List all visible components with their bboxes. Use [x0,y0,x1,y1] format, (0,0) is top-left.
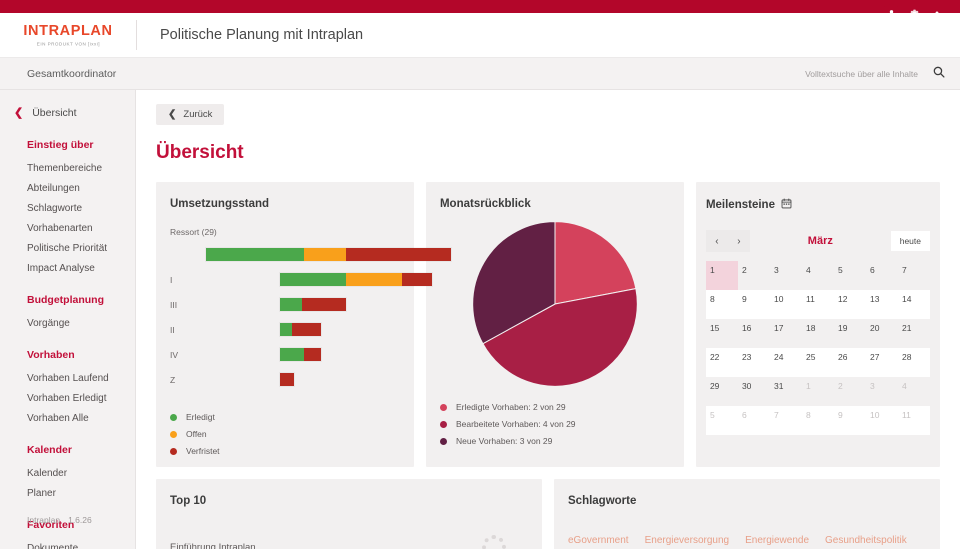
bar-chart-row: I [170,267,400,292]
calendar-week-row: 22232425262728 [706,348,930,377]
calendar-day-cell[interactable]: 12 [834,290,866,319]
calendar-month-label: März [750,235,891,247]
bar-track [206,323,400,336]
calendar-day-cell[interactable]: 9 [834,406,866,435]
tag-item[interactable]: Gesundheitspolitik [825,535,907,546]
calendar-day-cell[interactable]: 7 [898,261,930,290]
card-title-label: Meilensteine [706,199,775,211]
card-title: Schlagworte [568,495,926,507]
sidebar-group-einstieg: Einstieg über Themenbereiche Abteilungen… [0,139,135,278]
bar-segment-erledigt[interactable] [206,248,304,261]
sidebar-item-kalender[interactable]: Kalender [0,463,135,483]
bar-track [206,348,400,361]
calendar-day-cell[interactable]: 25 [802,348,834,377]
legend-dot [170,448,177,455]
calendar-day-cell[interactable]: 3 [866,377,898,406]
bar-stack[interactable] [280,273,432,286]
calendar-day-cell[interactable]: 21 [898,319,930,348]
bar-chart-axis-label: Ressort (29) [170,227,400,237]
app-version-name: Intraplan [27,515,60,525]
list-item[interactable]: Einführung Intraplan [170,535,528,549]
legend-label: Bearbeitete Vorhaben: 4 von 29 [456,419,576,429]
card-monatsrueckblick: Monatsrückblick Erledigte Vorhaben: 2 vo… [426,182,684,467]
calendar-day-cell[interactable]: 7 [770,406,802,435]
bar-row-label: I [170,275,206,285]
legend-dot [440,421,447,428]
sidebar-item-impact-analyse[interactable]: Impact Analyse [0,258,135,278]
card-title: Meilensteine [706,198,930,212]
sidebar-group-kalender: Kalender Kalender Planer [0,444,135,503]
legend-label: Erledigte Vorhaben: 2 von 29 [456,402,566,412]
calendar-day-cell[interactable]: 6 [738,406,770,435]
calendar-day-cell[interactable]: 14 [898,290,930,319]
sidebar-item-politische-prioritaet[interactable]: Politische Priorität [0,238,135,258]
search-input[interactable] [768,69,918,79]
chevron-left-icon: ❮ [14,106,23,119]
sidebar-group-title[interactable]: Kalender [0,444,135,456]
legend-label: Offen [186,429,207,439]
sidebar-group-vorhaben: Vorhaben Vorhaben Laufend Vorhaben Erled… [0,349,135,428]
card-title: Top 10 [170,495,528,507]
bar-segment-erledigt[interactable] [280,298,302,311]
top10-item-label: Einführung Intraplan [170,542,256,549]
calendar-day-cell[interactable]: 9 [738,290,770,319]
pie-chart-legend: Erledigte Vorhaben: 2 von 29Bearbeitete … [440,402,670,446]
sidebar-item-dokumente[interactable]: Dokumente [0,538,135,549]
calendar-day-cell[interactable]: 6 [866,261,898,290]
calendar-day-cell[interactable]: 4 [802,261,834,290]
donut-progress-icon [482,535,506,549]
calendar-prev-button[interactable]: ‹ [706,230,728,252]
sidebar-item-vorhaben-alle[interactable]: Vorhaben Alle [0,408,135,428]
calendar-arrows: ‹ › [706,230,750,252]
calendar-week-row: 15161718192021 [706,319,930,348]
sidebar-back-label: Übersicht [32,107,76,119]
tag-item[interactable]: Energiewende [745,535,809,546]
card-schlagworte: Schlagworte eGovernmentEnergieversorgung… [554,479,940,549]
bar-track [206,373,400,386]
bar-stack[interactable] [280,348,322,361]
calendar-day-cell[interactable]: 27 [866,348,898,377]
calendar-day-cell[interactable]: 8 [706,290,738,319]
calendar-week-row: 891011121314 [706,290,930,319]
calendar-day-cell[interactable]: 30 [738,377,770,406]
legend-item[interactable]: Erledigt [170,412,400,422]
bar-segment-erledigt[interactable] [280,323,292,336]
search-icon[interactable] [932,65,946,84]
calendar-day-cell[interactable]: 23 [738,348,770,377]
calendar-day-cell[interactable]: 29 [706,377,738,406]
bar-segment-verfristet[interactable] [346,248,451,261]
bar-chart-legend: ErledigtOffenVerfristet [170,412,400,456]
calendar-icon[interactable] [781,198,792,212]
search-container [768,58,946,90]
calendar-day-cell[interactable]: 11 [802,290,834,319]
header-divider [136,20,137,50]
legend-item[interactable]: Neue Vorhaben: 3 von 29 [440,436,670,446]
pie-chart-container [440,220,670,388]
bar-segment-verfristet[interactable] [280,373,295,386]
calendar-day-cell[interactable]: 4 [898,377,930,406]
bar-stack[interactable] [280,373,295,386]
legend-label: Erledigt [186,412,215,422]
calendar-day-cell[interactable]: 31 [770,377,802,406]
calendar-week-row: 2930311234 [706,377,930,406]
chevron-left-icon: ❮ [168,109,176,120]
sidebar-group-title[interactable]: Budgetplanung [0,294,135,306]
calendar-day-cell[interactable]: 15 [706,319,738,348]
sidebar-item-planer[interactable]: Planer [0,483,135,503]
tag-item[interactable]: Energieversorgung [645,535,730,546]
bar-segment-offen[interactable] [304,248,346,261]
legend-item[interactable]: Erledigte Vorhaben: 2 von 29 [440,402,670,412]
role-search-bar: Gesamtkoordinator [0,58,960,90]
page-title: Politische Planung mit Intraplan [160,27,363,43]
bar-segment-erledigt[interactable] [280,348,305,361]
bar-segment-verfristet[interactable] [402,273,431,286]
card-meilensteine: Meilensteine ‹ › [696,182,940,467]
dashboard-row-2: Top 10 Einführung Intraplan Schlagworte … [156,479,940,549]
bar-chart-row: IV [170,342,400,367]
sidebar-group-title[interactable]: Einstieg über [0,139,135,151]
bar-chart: IIIIIIIVZ [170,242,400,392]
legend-label: Neue Vorhaben: 3 von 29 [456,436,552,446]
sidebar-item-schlagworte[interactable]: Schlagworte [0,198,135,218]
calendar-day-cell[interactable]: 2 [738,261,770,290]
calendar-day-cell[interactable]: 2 [834,377,866,406]
calendar-day-cell[interactable]: 17 [770,319,802,348]
bar-stack[interactable] [206,248,451,261]
legend-label: Verfristet [186,446,220,456]
calendar-day-cell[interactable]: 19 [834,319,866,348]
calendar-day-cell[interactable]: 18 [802,319,834,348]
top-accent-bar [0,0,960,13]
content-page-title: Übersicht [156,142,940,164]
sidebar-item-vorhabenarten[interactable]: Vorhabenarten [0,218,135,238]
tag-list: eGovernmentEnergieversorgungEnergiewende… [568,535,926,546]
card-top10: Top 10 Einführung Intraplan [156,479,542,549]
calendar-day-cell[interactable]: 10 [866,406,898,435]
main-content: ❮ Zurück Übersicht Umsetzungsstand Resso… [136,90,960,549]
calendar-today-button[interactable]: heute [891,231,930,251]
calendar-week-row: 567891011 [706,406,930,435]
calendar-day-cell[interactable]: 5 [834,261,866,290]
bar-track [206,298,400,311]
bar-row-label: IV [170,350,206,360]
calendar-nav: ‹ › März heute [706,230,930,252]
bar-segment-verfristet[interactable] [292,323,321,336]
bar-row-label: III [170,300,206,310]
bar-segment-verfristet[interactable] [304,348,321,361]
calendar-day-cell[interactable]: 20 [866,319,898,348]
logo-subtitle: EIN PRODUKT VON [ixxi] [36,41,99,46]
bar-segment-erledigt[interactable] [280,273,346,286]
sidebar: ❮ Übersicht Einstieg über Themenbereiche… [0,90,136,549]
logo-text: INTRAPLAN [23,24,112,39]
dashboard-row-1: Umsetzungsstand Ressort (29) IIIIIIIVZ E… [156,182,940,467]
bar-chart-row [170,242,400,267]
bar-track [206,273,400,286]
calendar-day-cell[interactable]: 22 [706,348,738,377]
tag-item[interactable]: eGovernment [568,535,629,546]
sidebar-group-title[interactable]: Vorhaben [0,349,135,361]
app-version-number: 1.6.26 [68,515,92,525]
calendar-day-cell[interactable]: 5 [706,406,738,435]
legend-item[interactable]: Verfristet [170,446,400,456]
bar-segment-verfristet[interactable] [302,298,346,311]
calendar-day-cell[interactable]: 10 [770,290,802,319]
sidebar-item-vorhaben-laufend[interactable]: Vorhaben Laufend [0,368,135,388]
calendar-day-cell[interactable]: 24 [770,348,802,377]
calendar-day-cell[interactable]: 3 [770,261,802,290]
legend-dot [170,414,177,421]
calendar-day-cell[interactable]: 26 [834,348,866,377]
pie-chart [471,220,639,388]
calendar-day-cell[interactable]: 13 [866,290,898,319]
back-button[interactable]: ❮ Zurück [156,104,224,125]
calendar-day-cell[interactable]: 1 [802,377,834,406]
card-title: Monatsrückblick [440,198,670,210]
card-title: Umsetzungsstand [170,198,400,210]
bar-track [206,248,400,261]
app-version: Intraplan1.6.26 [27,515,92,525]
bar-stack[interactable] [280,323,322,336]
bar-row-label: Z [170,375,206,385]
sidebar-item-vorhaben-erledigt[interactable]: Vorhaben Erledigt [0,388,135,408]
bar-segment-offen[interactable] [346,273,402,286]
sidebar-item-vorgaenge[interactable]: Vorgänge [0,313,135,333]
bar-chart-row: Z [170,367,400,392]
logo[interactable]: INTRAPLAN EIN PRODUKT VON [ixxi] [0,24,136,46]
brand-header: INTRAPLAN EIN PRODUKT VON [ixxi] Politis… [0,13,960,58]
calendar-day-cell[interactable]: 28 [898,348,930,377]
calendar-day-cell[interactable]: 16 [738,319,770,348]
legend-dot [170,431,177,438]
role-label: Gesamtkoordinator [27,68,116,80]
bar-row-label: II [170,325,206,335]
sidebar-item-themenbereiche[interactable]: Themenbereiche [0,158,135,178]
calendar-day-cell[interactable]: 11 [898,406,930,435]
legend-item[interactable]: Bearbeitete Vorhaben: 4 von 29 [440,419,670,429]
legend-dot [440,438,447,445]
legend-dot [440,404,447,411]
app-root: INTRAPLAN EIN PRODUKT VON [ixxi] Politis… [0,0,960,549]
calendar-grid: 1234567891011121314151617181920212223242… [706,261,930,435]
bar-chart-row: III [170,292,400,317]
back-button-label: Zurück [183,109,212,120]
legend-item[interactable]: Offen [170,429,400,439]
bar-stack[interactable] [280,298,346,311]
bar-chart-row: II [170,317,400,342]
card-umsetzungsstand: Umsetzungsstand Ressort (29) IIIIIIIVZ E… [156,182,414,467]
sidebar-item-abteilungen[interactable]: Abteilungen [0,178,135,198]
calendar-day-cell[interactable]: 8 [802,406,834,435]
calendar-day-cell[interactable]: 1 [706,261,738,290]
sidebar-back-uebersicht[interactable]: ❮ Übersicht [0,102,135,123]
calendar-next-button[interactable]: › [728,230,750,252]
calendar-week-row: 1234567 [706,261,930,290]
sidebar-group-budgetplanung: Budgetplanung Vorgänge [0,294,135,333]
